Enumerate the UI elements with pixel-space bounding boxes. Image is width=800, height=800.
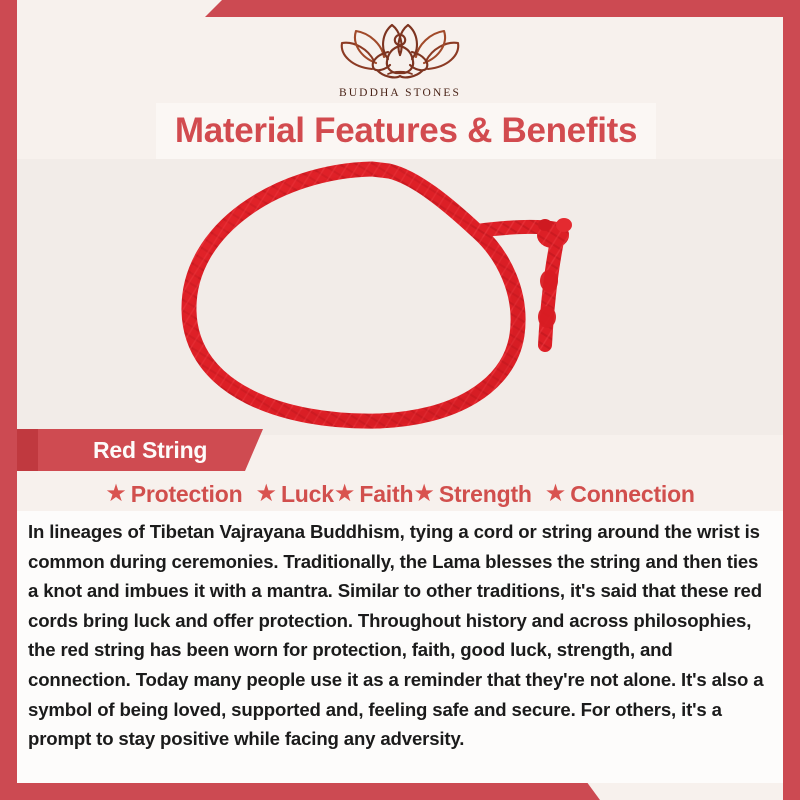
- feature-item-connection: ★ Connection: [545, 481, 695, 508]
- feature-label: Strength: [439, 481, 532, 508]
- ribbon-tail: [17, 429, 38, 471]
- brand-wordmark: BUDDHA STONES: [339, 87, 461, 99]
- description-text: In lineages of Tibetan Vajrayana Buddhis…: [28, 517, 772, 754]
- feature-label: Faith: [359, 481, 413, 508]
- feature-item-protection: ★ Protection: [105, 481, 242, 508]
- red-string-bracelet-illustration: [17, 159, 783, 435]
- feature-label: Luck: [281, 481, 334, 508]
- feature-label: Protection: [131, 481, 243, 508]
- star-icon: ★: [413, 482, 435, 506]
- infographic-page: BUDDHA STONES Material Features & Benefi…: [0, 0, 800, 800]
- feature-item-faith: ★ Faith: [334, 481, 413, 508]
- brand-logo: BUDDHA STONES: [17, 17, 783, 107]
- feature-list: ★ Protection ★ Luck ★ Faith ★ Strength ★…: [17, 473, 783, 515]
- star-icon: ★: [545, 482, 567, 506]
- frame-right-strip: [783, 0, 800, 800]
- feature-label: Connection: [570, 481, 695, 508]
- material-label-banner: Red String: [17, 429, 783, 475]
- lotus-meditation-icon: [330, 19, 470, 86]
- product-photo: [17, 159, 783, 435]
- page-title: Material Features & Benefits: [156, 103, 656, 159]
- star-icon: ★: [334, 482, 356, 506]
- description-block: In lineages of Tibetan Vajrayana Buddhis…: [17, 511, 783, 783]
- page-title-text: Material Features & Benefits: [175, 111, 637, 151]
- frame-left-strip: [0, 0, 17, 800]
- star-icon: ★: [105, 482, 127, 506]
- content-panel: BUDDHA STONES Material Features & Benefi…: [17, 17, 783, 783]
- material-label-text: Red String: [38, 437, 207, 464]
- feature-item-luck: ★ Luck: [255, 481, 333, 508]
- star-icon: ★: [255, 482, 277, 506]
- frame-top-bar: [0, 0, 800, 17]
- feature-item-strength: ★ Strength: [413, 481, 531, 508]
- ribbon: Red String: [38, 429, 263, 471]
